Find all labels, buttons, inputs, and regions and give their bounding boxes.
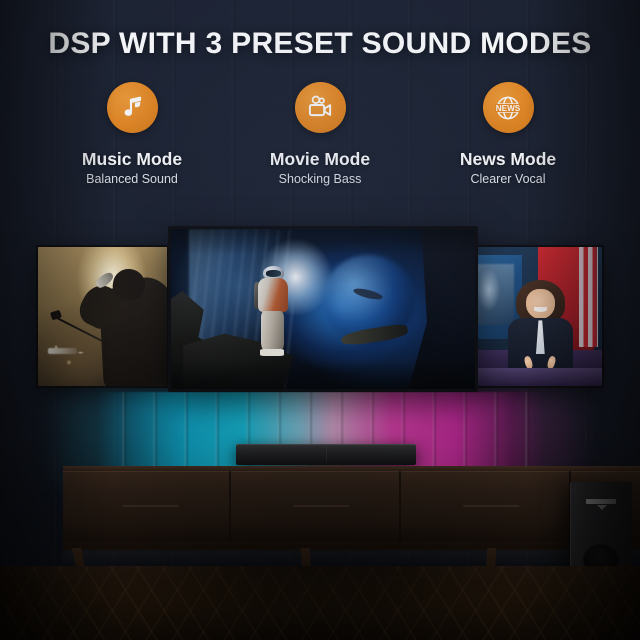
scene-vignette-overlay — [0, 0, 640, 640]
product-feature-image: DSP WITH 3 PRESET SOUND MODES Music Mode… — [0, 0, 640, 640]
